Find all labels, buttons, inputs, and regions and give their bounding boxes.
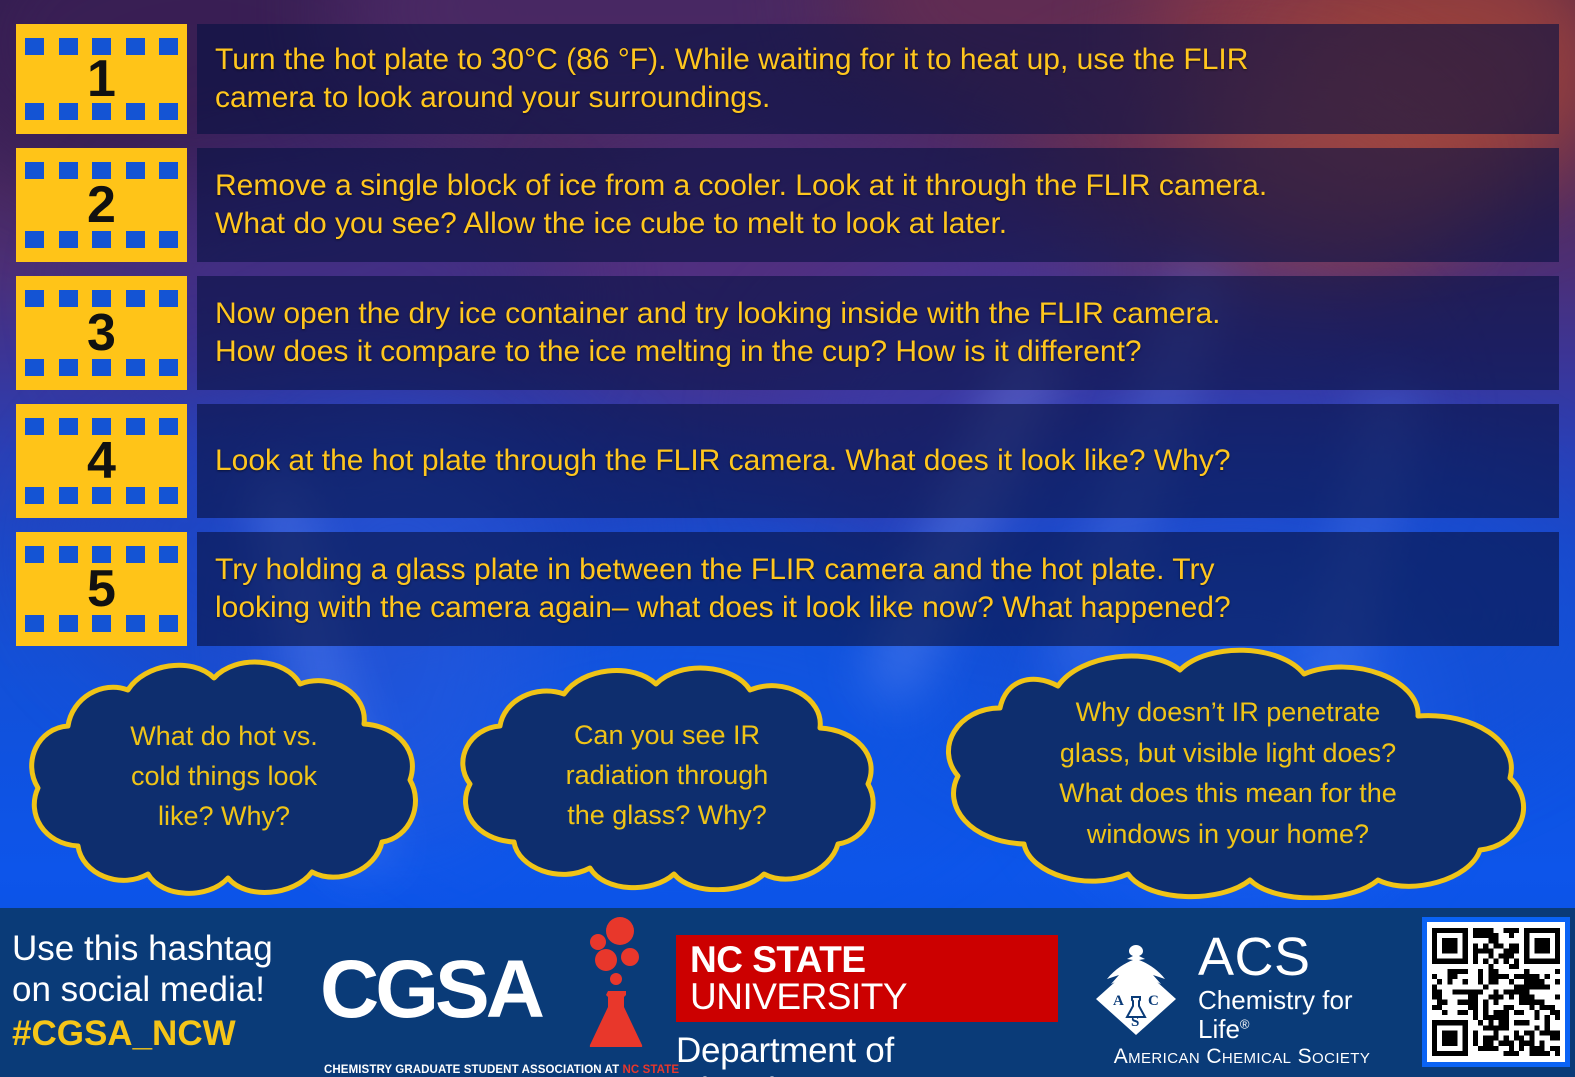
acs-logo: A C S ACS Chemistry for Life® American C…: [1086, 930, 1398, 1072]
nc-state-red-bar: NC STATE UNIVERSITY: [676, 935, 1058, 1022]
step-row: 4 Look at the hot plate through the FLIR…: [16, 404, 1559, 518]
step-row: 3 Now open the dry ice container and try…: [16, 276, 1559, 390]
step-row: 2 Remove a single block of ice from a co…: [16, 148, 1559, 262]
acs-wordmark-group: ACS Chemistry for Life®: [1198, 930, 1398, 1043]
step-number-badge-4: 4: [16, 404, 187, 518]
qr-code-icon: [1432, 927, 1560, 1057]
poster-root: 1 Turn the hot plate to 30°C (86 °F). Wh…: [0, 0, 1575, 1077]
qr-code-container[interactable]: [1422, 917, 1570, 1067]
cgsa-logo: CGSA CHEMISTRY GRADUATE STUDENT ASSOCIAT…: [320, 925, 650, 1077]
cloud-line: radiation through: [566, 756, 769, 796]
hashtag-line-2: on social media!: [12, 969, 312, 1010]
cloud-line: like? Why?: [130, 797, 318, 837]
hashtag-callout: Use this hashtag on social media! #CGSA_…: [12, 928, 312, 1054]
acs-tagline: Chemistry for Life®: [1198, 986, 1398, 1043]
thought-cloud: Why doesn’t IR penetrate glass, but visi…: [908, 646, 1548, 900]
step-instruction-text: Turn the hot plate to 30°C (86 °F). Whil…: [197, 24, 1559, 134]
cloud-line: glass, but visible light does?: [1059, 733, 1397, 774]
step-line: How does it compare to the ice melting i…: [215, 333, 1541, 371]
discussion-clouds: What do hot vs. cold things look like? W…: [0, 650, 1575, 908]
step-number-badge-1: 1: [16, 24, 187, 134]
acs-full-name: American Chemical Society: [1086, 1045, 1398, 1069]
step-line: Remove a single block of ice from a cool…: [215, 167, 1541, 205]
step-instruction-text: Now open the dry ice container and try l…: [197, 276, 1559, 390]
nc-state-name: NC STATE: [690, 939, 866, 980]
nc-state-university-word: UNIVERSITY: [690, 976, 907, 1017]
step-line: Now open the dry ice container and try l…: [215, 295, 1541, 333]
step-number-label: 3: [87, 307, 116, 359]
hashtag-line-1: Use this hashtag: [12, 928, 312, 969]
cloud-line: cold things look: [130, 757, 318, 797]
step-number-label: 1: [87, 53, 116, 105]
acs-acronym: ACS: [1198, 930, 1398, 984]
step-number-label: 5: [87, 563, 116, 615]
svg-text:A: A: [1113, 993, 1124, 1009]
cloud-question-text: What do hot vs. cold things look like? W…: [96, 717, 352, 837]
step-number-badge-2: 2: [16, 148, 187, 262]
hashtag-value: #CGSA_NCW: [12, 1013, 312, 1054]
cloud-line: Why doesn’t IR penetrate: [1059, 692, 1397, 733]
cloud-line: Can you see IR: [566, 716, 769, 756]
cloud-line: windows in your home?: [1059, 814, 1397, 855]
step-number-badge-3: 3: [16, 276, 187, 390]
step-instruction-text: Try holding a glass plate in between the…: [197, 532, 1559, 646]
step-number-label: 4: [87, 435, 116, 487]
step-number-label: 2: [87, 179, 116, 231]
step-line: What do you see? Allow the ice cube to m…: [215, 205, 1541, 243]
cloud-question-text: Why doesn’t IR penetrate glass, but visi…: [1025, 692, 1431, 854]
cloud-question-text: Can you see IR radiation through the gla…: [532, 716, 803, 836]
step-instruction-text: Remove a single block of ice from a cool…: [197, 148, 1559, 262]
step-line: camera to look around your surroundings.: [215, 79, 1541, 117]
step-number-badge-5: 5: [16, 532, 187, 646]
step-instruction-text: Look at the hot plate through the FLIR c…: [197, 404, 1559, 518]
acs-diamond-eagle-icon: A C S: [1086, 937, 1186, 1037]
cgsa-wordmark: CGSA: [320, 949, 560, 1031]
nc-state-department: Department of Chemistry: [676, 1031, 1058, 1077]
cgsa-tagline-accent: NC STATE: [623, 1064, 680, 1076]
thought-cloud: Can you see IR radiation through the gla…: [452, 660, 882, 892]
cgsa-tagline-main: CHEMISTRY GRADUATE STUDENT ASSOCIATION A…: [324, 1064, 623, 1076]
cgsa-tagline: CHEMISTRY GRADUATE STUDENT ASSOCIATION A…: [324, 1064, 650, 1076]
step-line: Look at the hot plate through the FLIR c…: [215, 442, 1541, 480]
step-line: Turn the hot plate to 30°C (86 °F). Whil…: [215, 41, 1541, 79]
thought-cloud: What do hot vs. cold things look like? W…: [24, 654, 424, 900]
svg-text:C: C: [1148, 993, 1159, 1009]
cloud-line: What do hot vs.: [130, 717, 318, 757]
acs-registered-mark: ®: [1240, 1016, 1250, 1031]
step-line: looking with the camera again– what does…: [215, 589, 1541, 627]
acs-tagline-text: Chemistry for Life: [1198, 985, 1353, 1044]
acs-logo-top: A C S ACS Chemistry for Life®: [1086, 930, 1398, 1043]
nc-state-logo: NC STATE UNIVERSITY Department of Chemis…: [676, 935, 1058, 1045]
cloud-line: the glass? Why?: [566, 796, 769, 836]
cloud-line: What does this mean for the: [1059, 773, 1397, 814]
step-row: 5 Try holding a glass plate in between t…: [16, 532, 1559, 646]
flask-icon: [570, 917, 650, 1047]
step-row: 1 Turn the hot plate to 30°C (86 °F). Wh…: [16, 24, 1559, 134]
qr-code-inner: [1427, 922, 1565, 1062]
step-line: Try holding a glass plate in between the…: [215, 551, 1541, 589]
